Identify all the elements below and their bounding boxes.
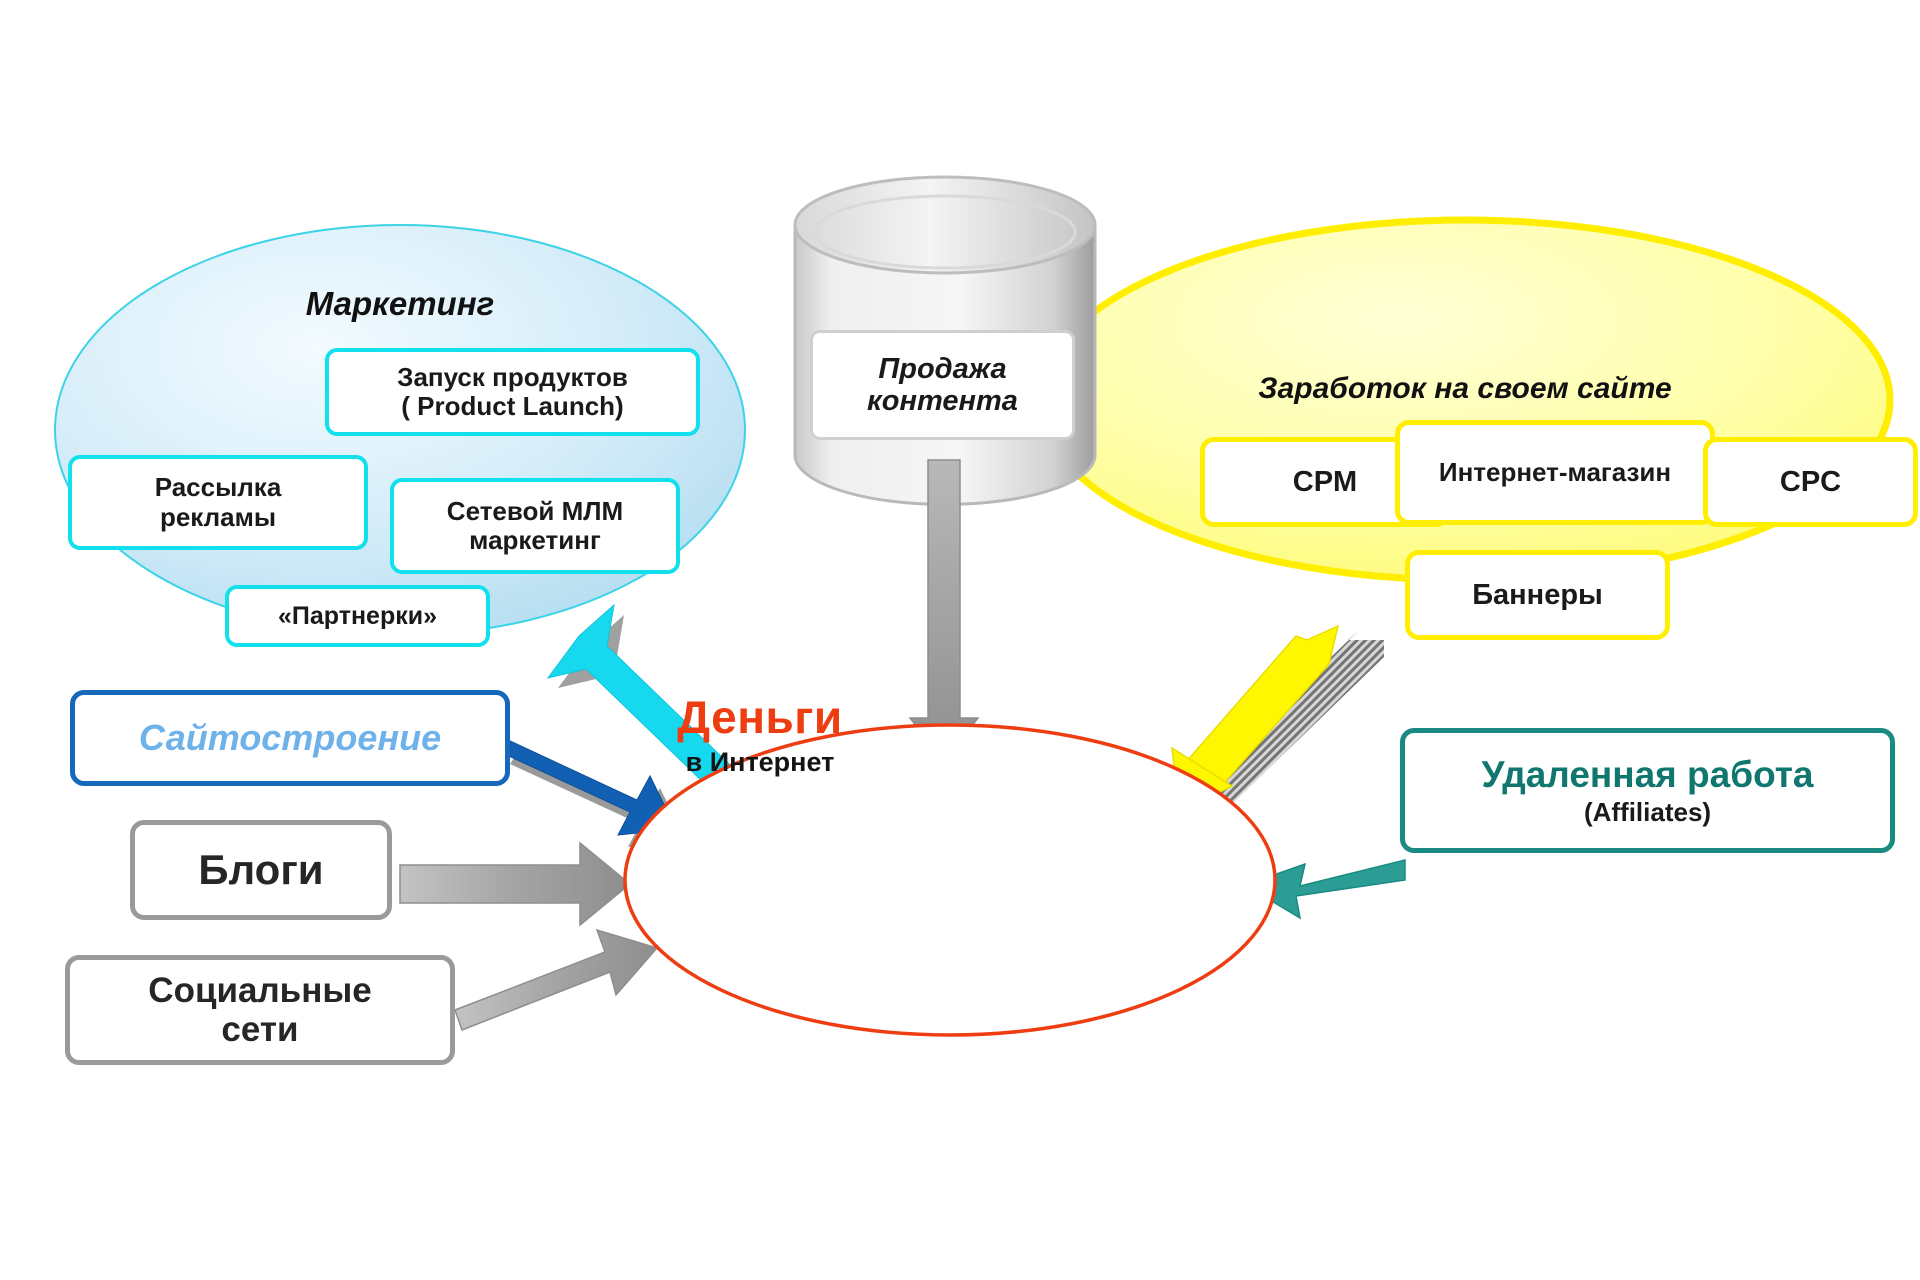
node-mlm[interactable]: Сетевой МЛМ маркетинг: [390, 478, 680, 574]
center-main-label: Деньги: [500, 690, 1020, 744]
node-website-building-label: Сайтостроение: [139, 718, 441, 758]
node-blogs[interactable]: Блоги: [130, 820, 392, 920]
marketing-group-title: Маркетинг: [170, 285, 630, 323]
own-site-group-title: Заработок на своем сайте: [1105, 372, 1825, 406]
node-affiliate-programs-label: «Партнерки»: [278, 602, 437, 630]
arrow-blogs: [400, 843, 630, 925]
node-remote-work-sublabel: (Affiliates): [1584, 798, 1711, 827]
node-online-shop-label: Интернет-магазин: [1439, 458, 1671, 487]
node-cpc[interactable]: CPC: [1703, 437, 1918, 527]
arrow-social: [455, 930, 657, 1030]
node-remote-work-label: Удаленная работа: [1482, 754, 1814, 795]
node-website-building[interactable]: Сайтостроение: [70, 690, 510, 786]
center-sub-label: в Интернет: [500, 747, 1020, 778]
node-mlm-label: Сетевой МЛМ маркетинг: [447, 497, 623, 555]
node-online-shop[interactable]: Интернет-магазин: [1395, 420, 1715, 525]
node-product-launch-label: Запуск продуктов ( Product Launch): [397, 363, 628, 421]
center-node-label: Деньги в Интернет: [500, 690, 1020, 778]
node-content-sales[interactable]: Продажа контента: [810, 330, 1075, 440]
node-banners[interactable]: Баннеры: [1405, 550, 1670, 640]
diagram-canvas: Маркетинг Заработок на своем сайте Запус…: [0, 0, 1920, 1280]
node-blogs-label: Блоги: [198, 846, 323, 893]
node-cpc-label: CPC: [1780, 466, 1841, 498]
node-social-networks-label: Социальные сети: [148, 971, 371, 1049]
node-remote-work[interactable]: Удаленная работа (Affiliates): [1400, 728, 1895, 853]
node-social-networks[interactable]: Социальные сети: [65, 955, 455, 1065]
node-banners-label: Баннеры: [1472, 579, 1603, 611]
node-content-sales-label: Продажа контента: [867, 353, 1018, 418]
node-affiliate-programs[interactable]: «Партнерки»: [225, 585, 490, 647]
node-ad-mailing-label: Рассылка рекламы: [155, 473, 282, 531]
node-ad-mailing[interactable]: Рассылка рекламы: [68, 455, 368, 550]
node-cpm-label: CPM: [1293, 466, 1357, 498]
node-product-launch[interactable]: Запуск продуктов ( Product Launch): [325, 348, 700, 436]
